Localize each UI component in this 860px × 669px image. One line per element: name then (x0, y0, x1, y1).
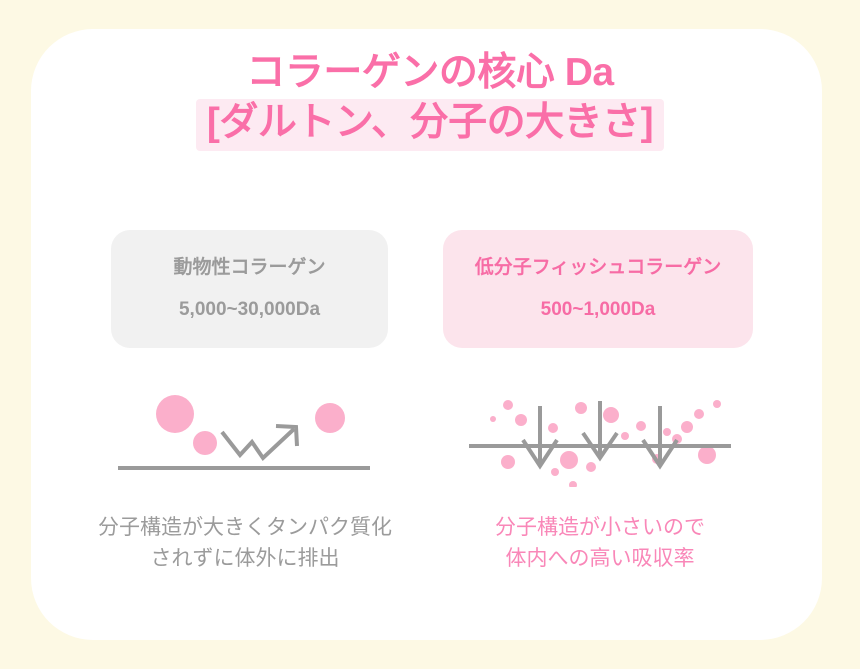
illustrations (0, 382, 860, 487)
comparison-cards: 動物性コラーゲン 5,000~30,000Da 低分子フィッシュコラーゲン 50… (0, 230, 860, 348)
small-molecules-absorbed-through-barrier-icon (455, 382, 745, 487)
title-line-2-highlight: [ダルトン、分子の大きさ] (196, 99, 664, 151)
caption-right-line-2: 体内への高い吸収率 (450, 543, 750, 574)
molecule-deflected (315, 403, 345, 433)
caption-animal-collagen: 分子構造が大きくタンパク質化 されずに体外に排出 (75, 512, 415, 574)
bounce-path (222, 429, 294, 458)
title-line-1: コラーゲンの核心 Da (0, 48, 860, 97)
title-line-2-wrapper: [ダルトン、分子の大きさ] (0, 99, 860, 155)
illustration-large-molecules (100, 382, 390, 487)
caption-left-line-2: されずに体外に排出 (75, 543, 415, 574)
molecule-medium (193, 431, 217, 455)
page-title: コラーゲンの核心 Da [ダルトン、分子の大きさ] (0, 48, 860, 155)
card-fish-value: 500~1,000Da (541, 298, 656, 322)
card-animal-title: 動物性コラーゲン (173, 256, 325, 280)
card-fish-title: 低分子フィッシュコラーゲン (475, 256, 722, 280)
caption-right-line-1: 分子構造が小さいので (450, 512, 750, 543)
illustration-small-molecules (455, 382, 745, 487)
caption-left-line-1: 分子構造が大きくタンパク質化 (75, 512, 415, 543)
caption-fish-collagen: 分子構造が小さいので 体内への高い吸収率 (450, 512, 750, 574)
large-molecules-bouncing-off-barrier-icon (100, 382, 390, 487)
absorption-arrows (523, 401, 677, 466)
molecule-large (156, 395, 194, 433)
card-animal-collagen: 動物性コラーゲン 5,000~30,000Da (111, 230, 388, 348)
card-animal-value: 5,000~30,000Da (179, 298, 320, 322)
card-fish-collagen: 低分子フィッシュコラーゲン 500~1,000Da (443, 230, 753, 348)
infographic-root: コラーゲンの核心 Da [ダルトン、分子の大きさ] 動物性コラーゲン 5,000… (0, 0, 860, 669)
